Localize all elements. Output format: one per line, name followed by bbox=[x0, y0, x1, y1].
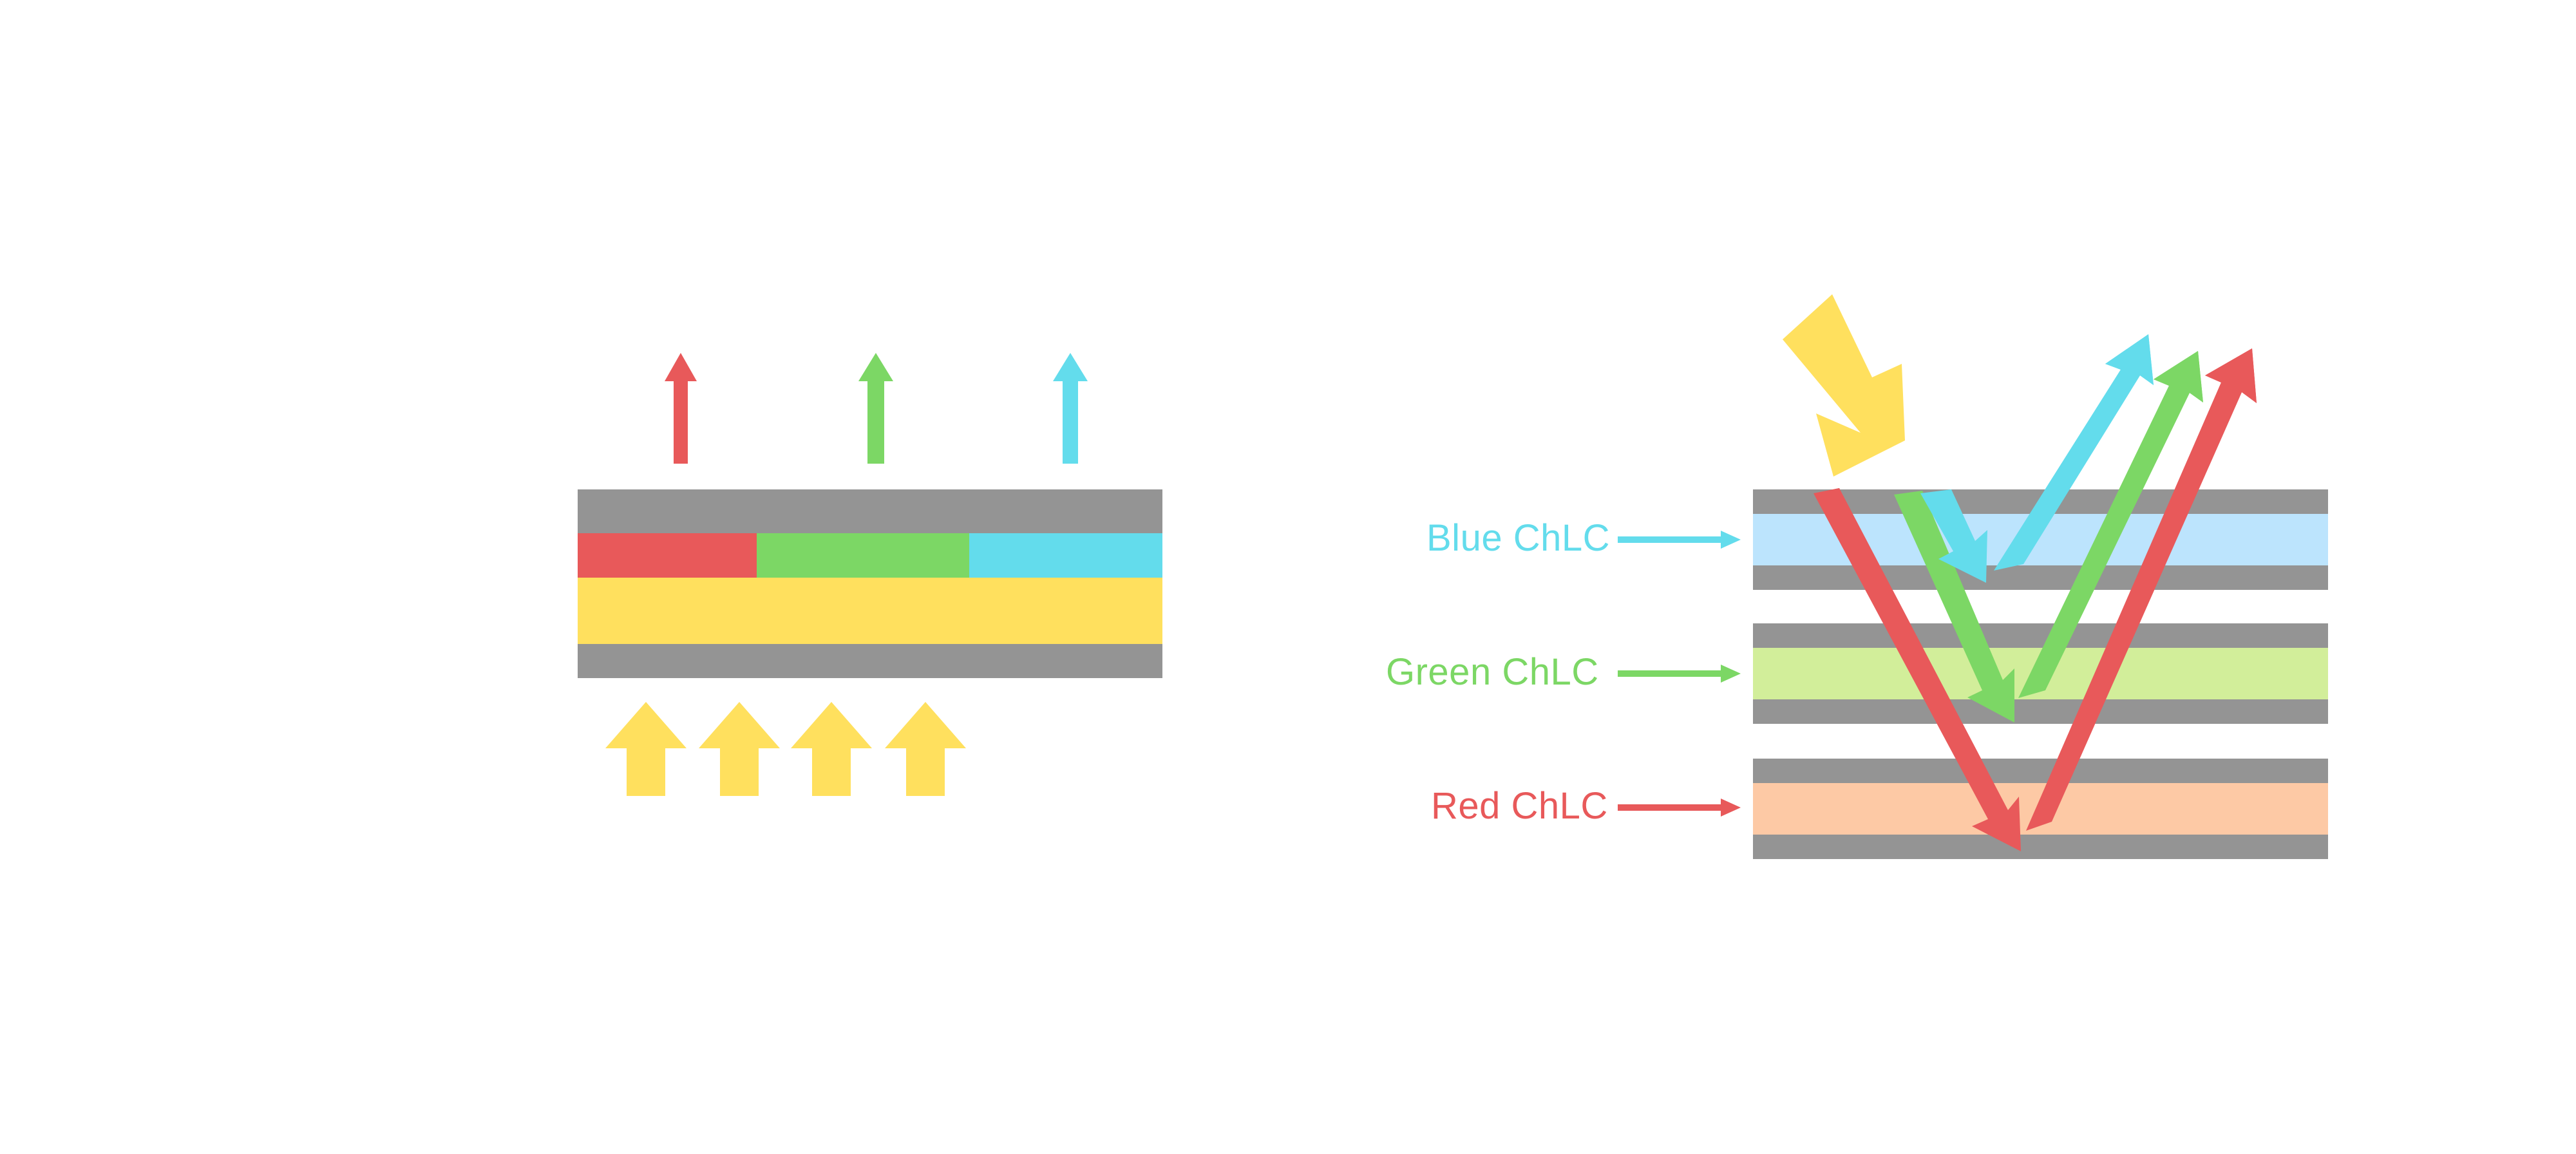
backlight-arrows bbox=[605, 702, 966, 796]
left-top-electrode bbox=[578, 489, 1162, 533]
green-top-electrode bbox=[1753, 623, 2328, 648]
blue-emitted-arrow bbox=[1053, 353, 1088, 464]
left-bottom-electrode bbox=[578, 644, 1162, 678]
red-top-electrode bbox=[1753, 759, 2328, 783]
red-chlc-label: Red ChLC bbox=[1431, 785, 1608, 827]
left-stack-layers bbox=[578, 489, 1162, 678]
blue-segment bbox=[969, 533, 1162, 578]
green-chlc-label: Green ChLC bbox=[1386, 651, 1599, 693]
left-panel-transmissive-stack bbox=[578, 353, 1162, 796]
green-emitted-arrow bbox=[858, 353, 893, 464]
red-bottom-electrode bbox=[1753, 835, 2328, 859]
blue-bottom-electrode bbox=[1753, 565, 2328, 590]
figure-canvas: Blue ChLC Green ChLC Red ChLC bbox=[0, 0, 2576, 1154]
layer-labels: Blue ChLC Green ChLC Red ChLC bbox=[1386, 517, 1741, 827]
backlight-arrow-3 bbox=[791, 702, 872, 796]
green-bottom-electrode bbox=[1753, 699, 2328, 724]
green-segment bbox=[757, 533, 969, 578]
right-panel-reflective-stack: Blue ChLC Green ChLC Red ChLC bbox=[1386, 294, 2328, 859]
white-light-incident-arrow bbox=[1783, 294, 1905, 477]
yellow-backlight-layer bbox=[578, 578, 1162, 644]
backlight-arrow-2 bbox=[699, 702, 780, 796]
red-chlc-label-arrow bbox=[1618, 799, 1741, 817]
chlc-stack-diagram: Blue ChLC Green ChLC Red ChLC bbox=[0, 0, 2576, 1154]
backlight-arrow-4 bbox=[885, 702, 966, 796]
green-chlc-label-arrow bbox=[1618, 665, 1741, 683]
blue-chlc-label: Blue ChLC bbox=[1426, 517, 1610, 559]
red-segment bbox=[578, 533, 757, 578]
blue-chlc-label-arrow bbox=[1618, 531, 1741, 549]
emitted-light-arrows bbox=[665, 353, 1088, 464]
red-emitted-arrow bbox=[665, 353, 697, 464]
backlight-arrow-1 bbox=[605, 702, 687, 796]
